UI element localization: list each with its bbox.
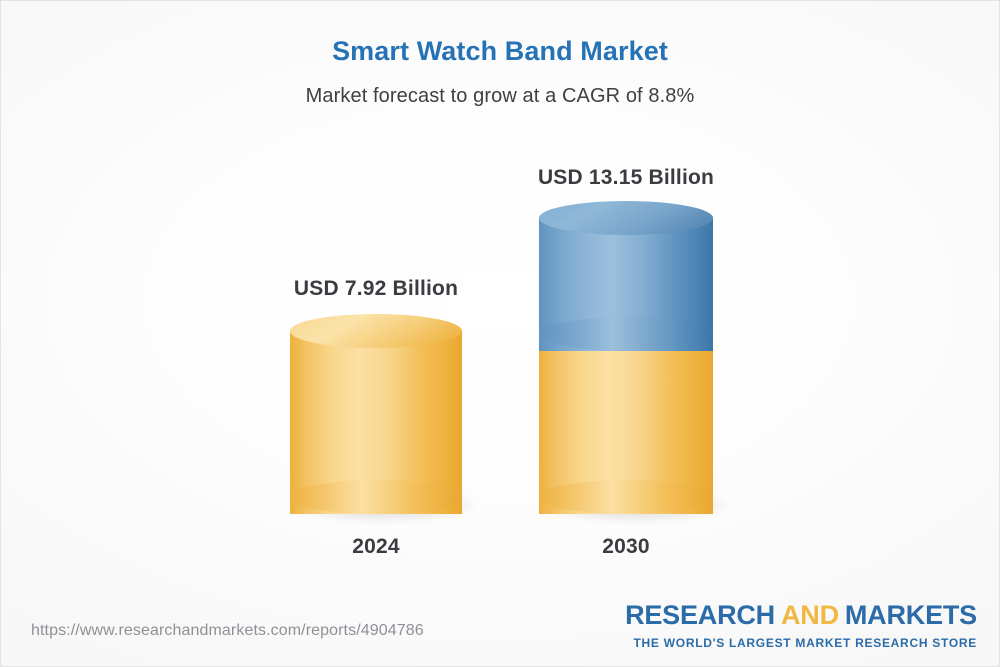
plot-area: USD 7.92 Billion 2024 USD 13.15 Billion … xyxy=(1,1,1000,667)
bar-2024-cylinder xyxy=(290,314,462,514)
bar-2024-bottom-cap xyxy=(290,480,462,514)
logo-word-markets: MARKETS xyxy=(845,600,977,630)
bar-2030-value-label: USD 13.15 Billion xyxy=(506,166,746,190)
research-and-markets-logo[interactable]: RESEARCHANDMARKETS THE WORLD'S LARGEST M… xyxy=(625,602,977,650)
logo-wordmark: RESEARCHANDMARKETS xyxy=(625,602,977,629)
logo-tagline: THE WORLD'S LARGEST MARKET RESEARCH STOR… xyxy=(625,629,977,650)
bar-2030-bottom-cap xyxy=(539,480,713,514)
bar-2024-top-cap xyxy=(290,314,462,348)
bar-2024-value-label: USD 7.92 Billion xyxy=(256,277,496,301)
source-url[interactable]: https://www.researchandmarkets.com/repor… xyxy=(31,622,424,640)
bar-2030-cylinder xyxy=(539,201,713,514)
logo-word-and: AND xyxy=(775,600,845,630)
bar-2030-category-label: 2030 xyxy=(536,535,716,559)
bar-2030-blue-bottom-cap xyxy=(539,317,713,351)
chart-card: Smart Watch Band Market Market forecast … xyxy=(0,0,1000,667)
logo-word-research: RESEARCH xyxy=(625,600,775,630)
bar-2030-top-cap xyxy=(539,201,713,235)
bar-2024-category-label: 2024 xyxy=(286,535,466,559)
